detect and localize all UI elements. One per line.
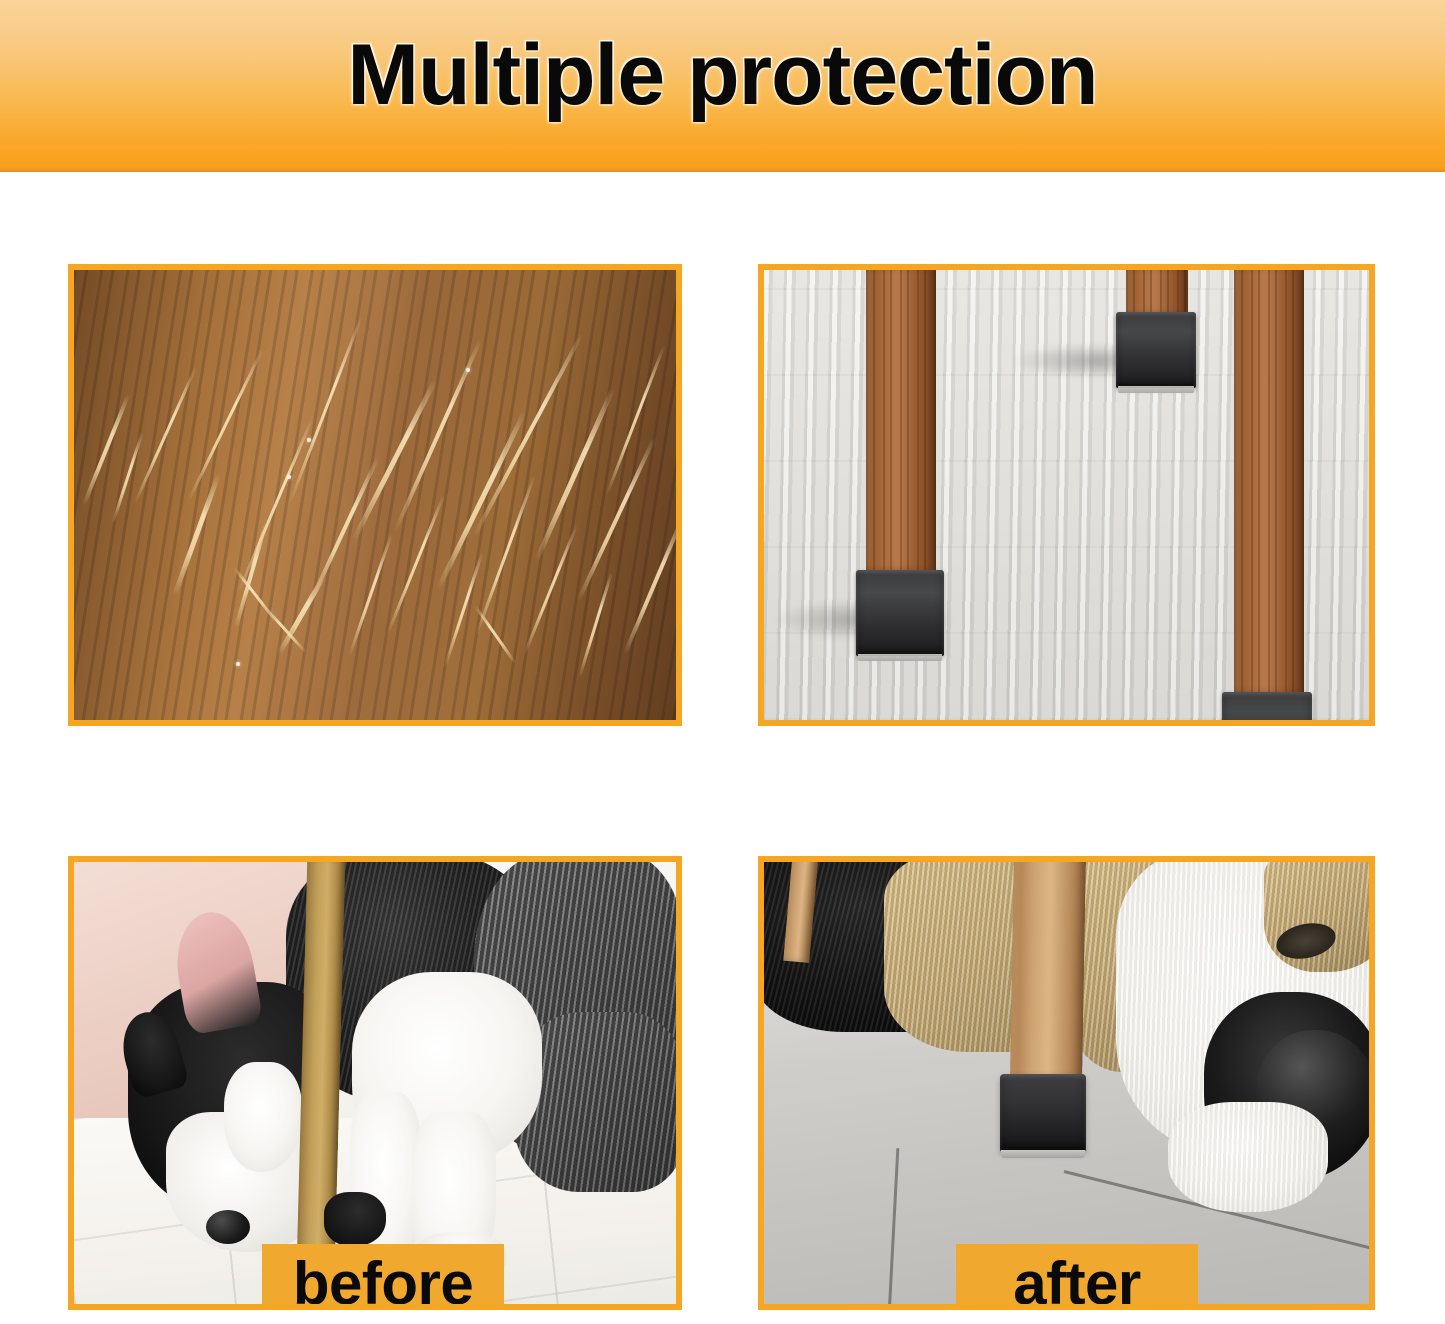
photo-dog-chewing-leg xyxy=(74,862,676,1304)
product-infographic: Multiple protection xyxy=(0,0,1445,1324)
table-leg-right xyxy=(1234,270,1304,694)
panel-before-dog-chewing: before xyxy=(68,856,682,1310)
scratch-marks xyxy=(74,270,676,720)
table-leg-left xyxy=(866,270,936,572)
panel-before-floor: before xyxy=(68,264,682,726)
page-title: Multiple protection xyxy=(0,30,1445,120)
husky-muzzle-over-leg xyxy=(324,1192,386,1246)
chair-leg-protected xyxy=(1010,862,1086,1081)
caption-after: after xyxy=(956,1244,1198,1310)
floor-protector-cap-rear xyxy=(1116,312,1196,388)
floor-protector-cap xyxy=(1000,1074,1086,1152)
husky-nose xyxy=(206,1210,250,1244)
photo-table-legs-protected xyxy=(764,270,1369,720)
caption-before: before xyxy=(262,1244,504,1310)
table-leg-rear xyxy=(1126,270,1188,316)
header-banner: Multiple protection xyxy=(0,0,1445,172)
panel-after-table-legs: after xyxy=(758,264,1375,726)
photo-dog-resting-protected-leg xyxy=(764,862,1369,1304)
floor-protector-cap-right xyxy=(1222,692,1312,720)
dog-chin-fur xyxy=(1168,1102,1328,1212)
husky-face-blaze xyxy=(224,1062,302,1172)
floor-protector-cap-left xyxy=(856,570,944,656)
panel-after-dog-resting: after xyxy=(758,856,1375,1310)
photo-scratched-floor xyxy=(74,270,676,720)
